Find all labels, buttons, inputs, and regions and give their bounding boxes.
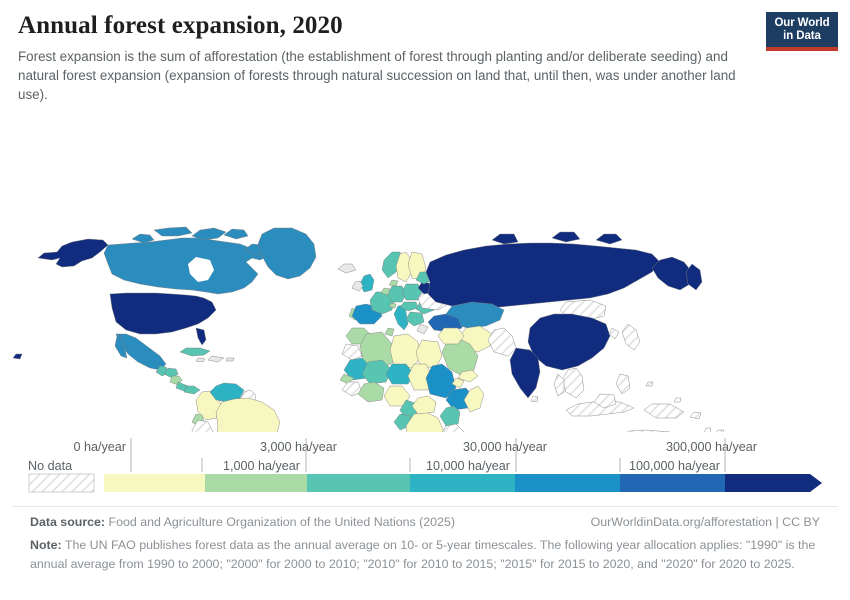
country-puerto-rico[interactable]: [226, 358, 234, 361]
world-map[interactable]: [0, 112, 850, 432]
page-title: Annual forest expansion, 2020: [18, 12, 832, 40]
country-thailand[interactable]: [554, 374, 564, 396]
country-india[interactable]: [510, 348, 540, 398]
chart-header: Annual forest expansion, 2020 Forest exp…: [0, 0, 850, 104]
country-solomon-islands[interactable]: [690, 412, 701, 419]
country-korea[interactable]: [609, 328, 619, 339]
country-china[interactable]: [528, 314, 610, 370]
country-philippines[interactable]: [616, 374, 630, 394]
country-aleutian-islet[interactable]: [13, 354, 22, 359]
legend-tick-label-100000: 100,000 ha/year: [629, 459, 720, 473]
legend-bin-5[interactable]: [620, 474, 725, 492]
legend-tick-label-1000: 1,000 ha/year: [223, 459, 300, 473]
footer-note: Note: The UN FAO publishes forest data a…: [30, 536, 820, 573]
footer-link[interactable]: OurWorldinData.org/afforestation | CC BY: [591, 513, 820, 532]
country-fiji[interactable]: [715, 430, 724, 432]
country-hispaniola[interactable]: [208, 356, 224, 362]
owid-logo[interactable]: Our World in Data: [766, 12, 838, 51]
map-countries: [13, 227, 738, 432]
country-western-sahara[interactable]: [342, 344, 362, 360]
country-united-states[interactable]: [110, 293, 216, 334]
country-iceland[interactable]: [338, 264, 356, 273]
country-uganda-kenya[interactable]: [440, 406, 460, 426]
legend-svg[interactable]: 0 ha/year 3,000 ha/year 30,000 ha/year 3…: [0, 434, 850, 502]
legend-no-data-label: No data: [28, 459, 72, 473]
country-ivory-coast-ghana[interactable]: [358, 382, 384, 402]
owid-logo-line1: Our World: [766, 17, 838, 30]
legend-tick-label-0: 0 ha/year: [73, 440, 126, 454]
legend-bin-1[interactable]: [205, 474, 307, 492]
country-japan[interactable]: [622, 324, 640, 350]
country-vanuatu[interactable]: [704, 428, 711, 432]
country-australia[interactable]: [604, 430, 694, 432]
country-new-guinea[interactable]: [644, 404, 684, 418]
legend-swatch-no-data[interactable]: [29, 474, 94, 492]
footer-note-text: The UN FAO publishes forest data as the …: [30, 538, 815, 570]
footer-source-text: Food and Agriculture Organization of the…: [109, 515, 455, 529]
country-sri-lanka[interactable]: [531, 396, 538, 402]
country-brazil[interactable]: [216, 398, 280, 432]
country-russia-arctic-2[interactable]: [552, 232, 580, 242]
country-pacific-islet-2[interactable]: [674, 398, 681, 402]
footer-source-label: Data source:: [30, 515, 105, 529]
country-greenland[interactable]: [258, 228, 316, 279]
country-russia-far-east[interactable]: [652, 257, 692, 290]
country-jamaica[interactable]: [196, 358, 205, 362]
legend-bin-6[interactable]: [725, 474, 822, 492]
country-libya[interactable]: [390, 334, 420, 368]
country-united-kingdom[interactable]: [360, 274, 374, 292]
legend-tick-label-30000: 30,000 ha/year: [463, 440, 547, 454]
country-russia-arctic-1[interactable]: [492, 234, 518, 244]
legend-tick-label-300000: 300,000 ha/year: [666, 440, 757, 454]
country-us-florida[interactable]: [196, 328, 206, 345]
country-canada-arctic-1[interactable]: [154, 227, 192, 236]
legend-tick-label-10000: 10,000 ha/year: [426, 459, 510, 473]
map-legend[interactable]: 0 ha/year 3,000 ha/year 30,000 ha/year 3…: [0, 434, 850, 502]
footer-note-label: Note:: [30, 538, 62, 552]
owid-logo-line2: in Data: [766, 30, 838, 43]
legend-tick-label-3000: 3,000 ha/year: [260, 440, 337, 454]
legend-bin-2[interactable]: [307, 474, 410, 492]
chart-footer: Data source: Food and Agriculture Organi…: [12, 506, 838, 573]
country-tunisia[interactable]: [385, 328, 394, 336]
country-afghanistan-pakistan[interactable]: [488, 328, 516, 356]
country-denmark[interactable]: [389, 280, 398, 286]
world-map-svg[interactable]: [0, 112, 850, 432]
country-greece[interactable]: [417, 324, 428, 334]
legend-bin-4[interactable]: [515, 474, 620, 492]
chart-subtitle: Forest expansion is the sum of afforesta…: [18, 47, 763, 104]
country-alaska[interactable]: [38, 239, 108, 267]
owid-grapher-map: Annual forest expansion, 2020 Forest exp…: [0, 0, 850, 600]
country-panama[interactable]: [184, 386, 200, 394]
country-russia[interactable]: [426, 243, 660, 308]
legend-bin-0[interactable]: [104, 474, 205, 492]
country-canada[interactable]: [104, 238, 268, 294]
country-indochina[interactable]: [562, 368, 584, 398]
legend-bin-3[interactable]: [410, 474, 515, 492]
country-canada-arctic-4[interactable]: [132, 234, 154, 243]
country-cuba[interactable]: [180, 348, 210, 356]
footer-source-row: Data source: Food and Agriculture Organi…: [30, 513, 820, 532]
country-russia-arctic-3[interactable]: [596, 234, 622, 244]
legend-bins[interactable]: [104, 474, 822, 492]
country-pacific-islet-1[interactable]: [646, 382, 653, 386]
footer-source: Data source: Food and Agriculture Organi…: [30, 513, 455, 532]
country-tanzania[interactable]: [440, 424, 464, 432]
country-canada-arctic-3[interactable]: [224, 229, 248, 239]
country-balkans[interactable]: [406, 312, 424, 326]
